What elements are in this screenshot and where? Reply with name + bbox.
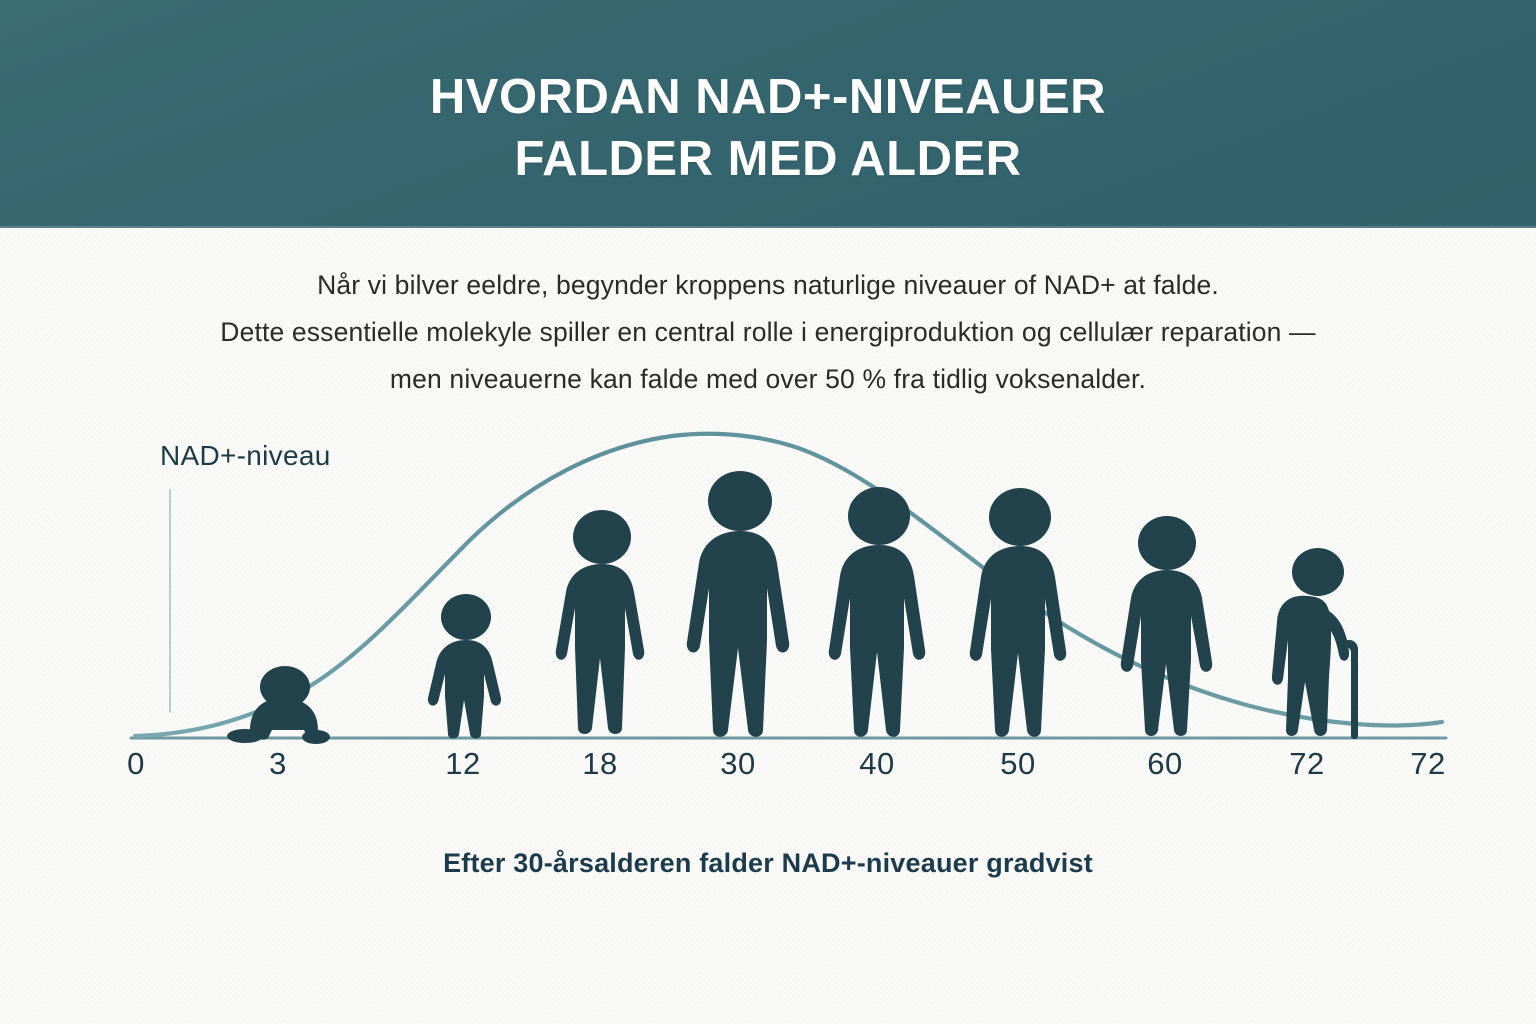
intro-line-1: Når vi bilver eeldre, begynder kroppens … xyxy=(0,262,1536,309)
figure-teen-age-18 xyxy=(556,510,645,734)
figure-adult-age-60 xyxy=(1121,516,1212,736)
figure-crawling-baby-age-3 xyxy=(227,666,330,744)
x-tick-9: 72 xyxy=(1410,746,1445,782)
chart-caption: Efter 30-årsalderen falder NAD+-niveauer… xyxy=(0,848,1536,879)
infographic-page: HVORDAN NAD+-NIVEAUER FALDER MED ALDER N… xyxy=(0,0,1536,1024)
page-title: HVORDAN NAD+-NIVEAUER FALDER MED ALDER xyxy=(0,66,1536,190)
x-tick-3: 18 xyxy=(582,746,617,782)
x-tick-1: 3 xyxy=(269,746,287,782)
intro-paragraph: Når vi bilver eeldre, begynder kroppens … xyxy=(0,262,1536,403)
x-tick-0: 0 xyxy=(127,746,145,782)
header-banner: HVORDAN NAD+-NIVEAUER FALDER MED ALDER xyxy=(0,0,1536,228)
figure-adult-age-30 xyxy=(687,471,789,737)
x-tick-2: 12 xyxy=(445,746,480,782)
intro-line-2: Dette essentielle molekyle spiller en ce… xyxy=(0,309,1536,356)
figure-adult-age-50 xyxy=(970,488,1066,737)
y-axis-label: NAD+-niveau xyxy=(160,440,331,472)
x-tick-8: 72 xyxy=(1289,746,1324,782)
x-tick-4: 30 xyxy=(720,746,755,782)
figure-child-age-12 xyxy=(428,594,501,739)
x-tick-6: 50 xyxy=(1000,746,1035,782)
intro-line-3: men niveauerne kan falde med over 50 % f… xyxy=(0,356,1536,403)
title-line-1: HVORDAN NAD+-NIVEAUER xyxy=(430,70,1106,124)
figure-adult-age-40 xyxy=(829,487,925,737)
title-line-2: FALDER MED ALDER xyxy=(0,128,1536,190)
figure-group xyxy=(227,471,1358,744)
x-tick-5: 40 xyxy=(859,746,894,782)
x-tick-7: 60 xyxy=(1147,746,1182,782)
x-axis-tick-labels: 0 3 12 18 30 40 50 60 72 72 xyxy=(0,746,1536,796)
figure-elderly-with-cane-age-72 xyxy=(1272,548,1358,739)
nad-level-curve xyxy=(135,434,1442,736)
